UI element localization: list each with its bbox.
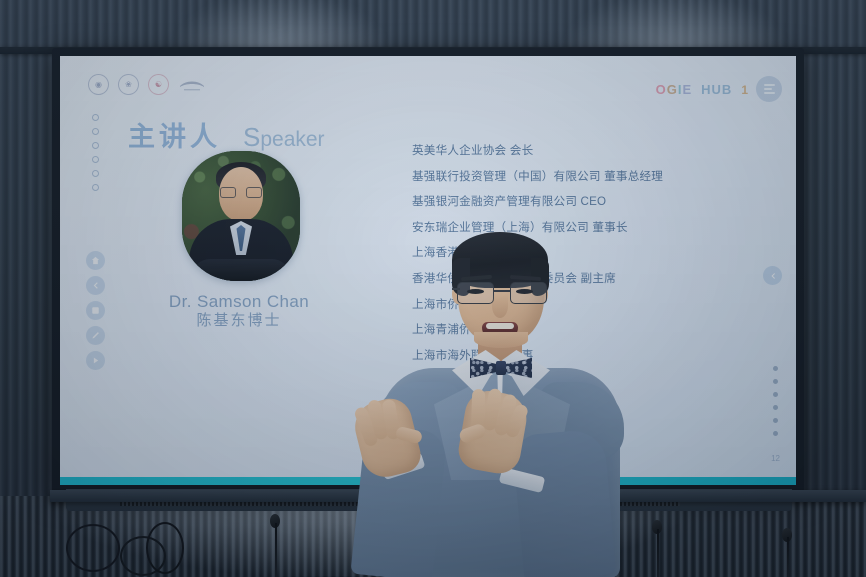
- presenter-chin: [474, 332, 528, 348]
- speaker-name-english: Dr. Samson Chan: [134, 291, 344, 312]
- menu-lines-icon: [764, 82, 775, 96]
- back-icon[interactable]: [86, 276, 105, 295]
- list-item: 英美华人企业协会 会长: [412, 145, 742, 157]
- org-logo-3-icon: ☯: [148, 74, 169, 95]
- slide-title-english-cap: S: [243, 122, 260, 152]
- portrait-arms: [192, 259, 290, 281]
- slide-dot[interactable]: [773, 366, 778, 371]
- bowtie-wing-right: [505, 356, 532, 380]
- rail-dot: [92, 170, 99, 177]
- glasses-bridge: [494, 290, 510, 292]
- speaker-name-block: Dr. Samson Chan 陈基东博士: [134, 291, 344, 331]
- presenter-eye-right: [516, 289, 533, 294]
- hub-word: HUB: [701, 82, 732, 97]
- audio-cable-loop-1: [66, 524, 120, 572]
- org-logo-2-icon: ❀: [118, 74, 139, 95]
- microphone-1: [268, 514, 282, 577]
- slide-title-english-rest: peaker: [260, 128, 324, 151]
- play-icon[interactable]: [86, 351, 105, 370]
- prev-slide-icon[interactable]: [763, 266, 782, 285]
- bowtie-knot: [496, 361, 506, 375]
- microphone-3: [780, 528, 794, 577]
- hub-brand-logo: OGIE HUB 1: [656, 76, 782, 102]
- rail-dot: [92, 114, 99, 121]
- mic-stem: [787, 537, 789, 577]
- speaker-portrait-photo: [182, 151, 300, 281]
- slide-page-number: 12: [771, 454, 780, 463]
- speaker-name-chinese: 陈基东博士: [134, 312, 344, 331]
- conference-room-scene: ◉ ❀ ☯ OGIE: [0, 0, 866, 577]
- mic-stem: [657, 529, 659, 577]
- rail-dot: [92, 128, 99, 135]
- org-logo-1-icon: ◉: [88, 74, 109, 95]
- presenter-bowtie: [470, 356, 532, 380]
- slide-dot[interactable]: [773, 379, 778, 384]
- list-item: 基强银河金融资产管理有限公司 CEO: [412, 196, 742, 208]
- rail-dot: [92, 156, 99, 163]
- microphone-2: [650, 520, 664, 577]
- pen-icon[interactable]: [86, 326, 105, 345]
- slide-title-chinese: 主讲人: [128, 115, 221, 154]
- portrait-glasses-icon: [220, 187, 262, 198]
- slide-dot[interactable]: [773, 392, 778, 397]
- rail-dot: [92, 142, 99, 149]
- org-logo-4-icon: [178, 76, 206, 94]
- presenter-person: [322, 232, 622, 577]
- slide-toolbar-rail[interactable]: [86, 251, 105, 370]
- audio-cable-loop-3: [146, 522, 184, 574]
- slide-dot[interactable]: [773, 431, 778, 436]
- presenter-eye-left: [467, 289, 484, 294]
- glasses-temple: [452, 288, 460, 290]
- slide-dot[interactable]: [773, 418, 778, 423]
- hub-letter-e: E: [682, 82, 692, 97]
- presenter-nose: [492, 294, 508, 318]
- list-item: 基强联行投资管理（中国）有限公司 董事总经理: [412, 171, 742, 183]
- rail-dot: [92, 184, 99, 191]
- slide-progress-dots[interactable]: [773, 366, 778, 436]
- hub-letter-g: G: [667, 82, 678, 97]
- mic-stem: [275, 523, 277, 577]
- home-icon[interactable]: [86, 251, 105, 270]
- organization-logos: ◉ ❀ ☯: [88, 74, 206, 95]
- rail-indicator-dots: [92, 114, 99, 191]
- presenter-arm-right: [512, 428, 616, 577]
- bowtie-wing-left: [470, 356, 497, 380]
- slide-title: 主讲人 Speaker: [128, 115, 325, 154]
- slide-title-english: Speaker: [243, 122, 325, 153]
- presenter-teeth: [486, 323, 514, 329]
- slide-dot[interactable]: [773, 405, 778, 410]
- save-icon[interactable]: [86, 301, 105, 320]
- menu-badge-icon[interactable]: [756, 76, 782, 102]
- hub-number: 1: [741, 83, 749, 97]
- hub-letter-o: O: [656, 82, 667, 97]
- hub-logo-text: OGIE HUB 1: [656, 82, 749, 97]
